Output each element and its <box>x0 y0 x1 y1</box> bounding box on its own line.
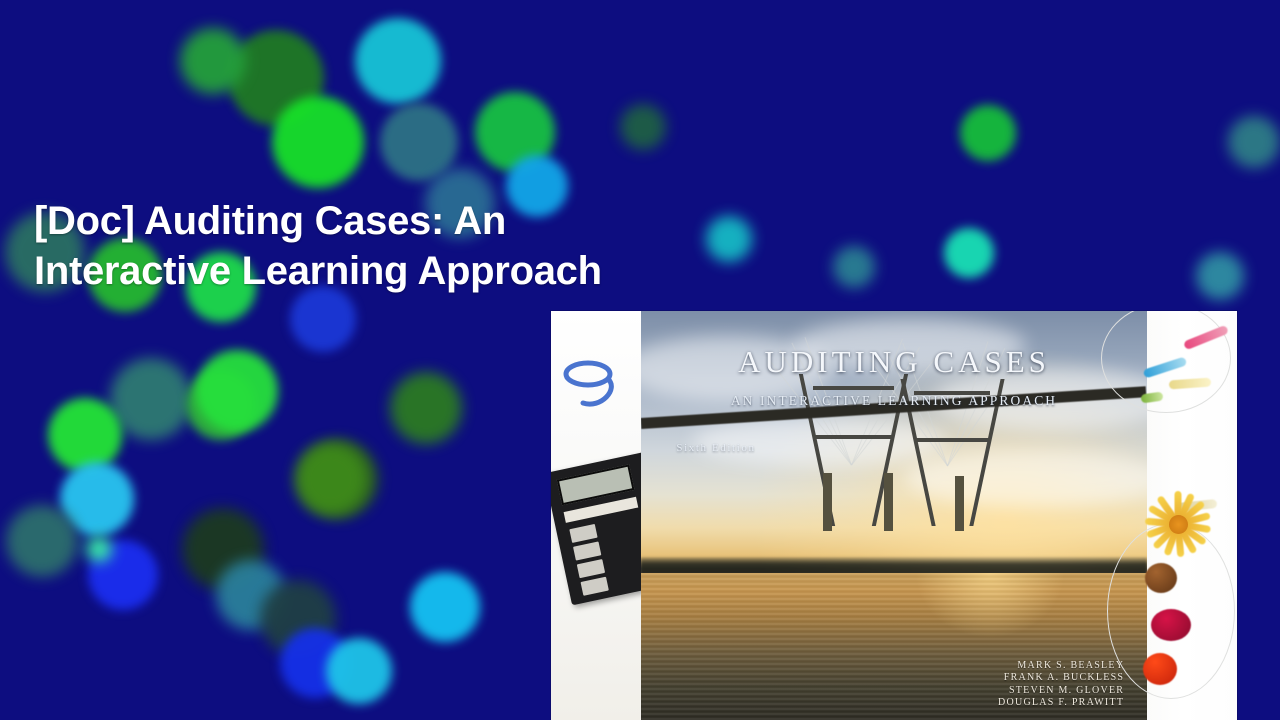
bokeh-circle <box>833 246 875 288</box>
cover-author: DOUGLAS F. PRAWITT <box>998 697 1124 710</box>
bokeh-circle <box>6 505 78 577</box>
cover-author: FRANK A. BUCKLESS <box>998 672 1124 685</box>
bokeh-circle <box>390 372 462 444</box>
calculator-key <box>581 577 609 596</box>
cover-author: MARK S. BEASLEY <box>998 660 1124 673</box>
page-title-line-2: Interactive Learning Approach <box>34 246 794 296</box>
sunflower-core <box>1169 515 1188 534</box>
bridge-pier <box>884 473 893 531</box>
bokeh-circle <box>48 398 122 472</box>
bokeh-circle <box>86 536 112 562</box>
calculator-key <box>569 524 597 543</box>
cover-left-flap <box>551 311 641 720</box>
paperclip-icon <box>561 359 623 415</box>
cover-edition: Sixth Edition <box>676 442 755 454</box>
bokeh-circle <box>1228 116 1280 168</box>
bokeh-circle <box>1196 252 1244 300</box>
bokeh-circle <box>355 18 441 104</box>
bokeh-circle <box>410 572 480 642</box>
sunflower-icon <box>1141 487 1215 561</box>
bokeh-circle <box>960 105 1016 161</box>
cover-right-flap <box>1147 311 1237 720</box>
page-title-line-1: [Doc] Auditing Cases: An <box>34 196 794 246</box>
bokeh-circle <box>380 103 458 181</box>
cover-subtitle: AN INTERACTIVE LEARNING APPROACH <box>641 393 1147 409</box>
bokeh-circle <box>196 350 278 432</box>
book-cover-image: AUDITING CASES AN INTERACTIVE LEARNING A… <box>551 311 1237 720</box>
cover-author: STEVEN M. GLOVER <box>998 685 1124 698</box>
bokeh-circle <box>272 96 364 188</box>
cover-authors: MARK S. BEASLEY FRANK A. BUCKLESS STEVEN… <box>998 660 1124 710</box>
bokeh-circle <box>620 104 666 150</box>
bokeh-circle <box>295 443 367 515</box>
bead <box>1151 609 1191 641</box>
calculator-key <box>573 541 601 560</box>
cover-title: AUDITING CASES <box>641 344 1147 380</box>
bead <box>1145 563 1177 593</box>
bead <box>1143 653 1177 685</box>
bokeh-circle <box>180 28 246 94</box>
bokeh-circle <box>326 638 392 704</box>
bridge-pier <box>955 476 964 531</box>
cover-photo: AUDITING CASES AN INTERACTIVE LEARNING A… <box>641 311 1147 720</box>
video-thumbnail-slide: [Doc] Auditing Cases: An Interactive Lea… <box>0 0 1280 720</box>
bridge-pier <box>823 473 832 531</box>
calculator-key <box>577 559 605 578</box>
page-title: [Doc] Auditing Cases: An Interactive Lea… <box>34 196 794 296</box>
bokeh-circle <box>944 228 994 278</box>
bokeh-circle <box>110 358 192 440</box>
